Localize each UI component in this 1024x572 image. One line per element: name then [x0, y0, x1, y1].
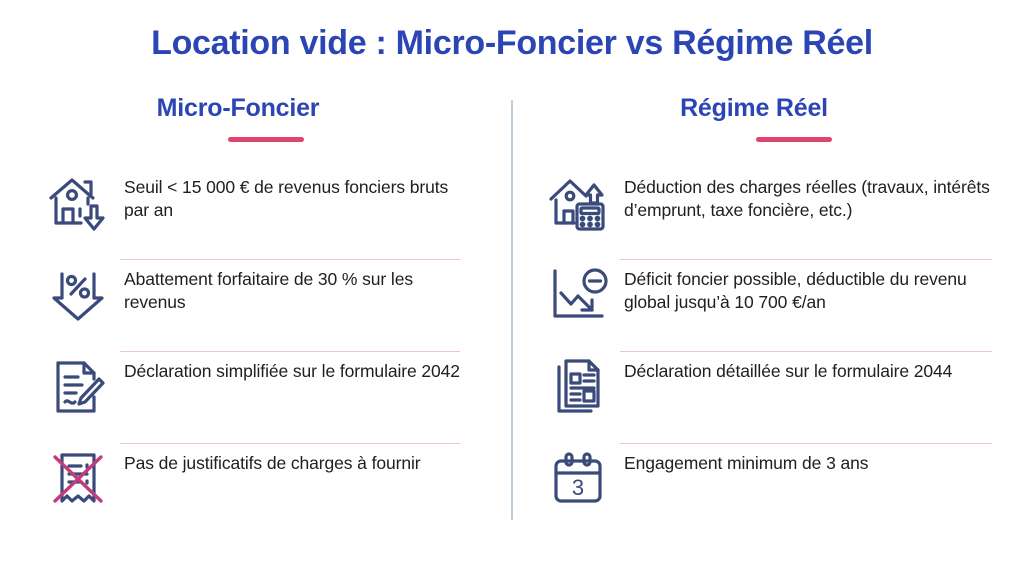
- list-item: Déclaration simplifiée sur le formulaire…: [42, 352, 474, 444]
- column-regime-reel: Régime Réel: [512, 92, 1024, 532]
- column-heading-micro-foncier: Micro-Foncier: [42, 92, 474, 123]
- stacked-documents-icon: [542, 352, 614, 420]
- columns-container: Micro-Foncier: [0, 92, 1024, 532]
- list-item-text: Déduction des charges réelles (travaux, …: [624, 168, 1006, 223]
- page-title: Location vide : Micro-Foncier vs Régime …: [0, 24, 1024, 63]
- feature-list-micro-foncier: Seuil < 15 000 € de revenus fonciers bru…: [42, 168, 474, 536]
- column-micro-foncier: Micro-Foncier: [0, 92, 512, 532]
- list-item: 3 Engagement minimum de 3 ans: [542, 444, 1006, 536]
- column-heading-regime-reel: Régime Réel: [542, 92, 1006, 123]
- list-item: Déclaration détaillée sur le formulaire …: [542, 352, 1006, 444]
- list-item: Seuil < 15 000 € de revenus fonciers bru…: [42, 168, 474, 260]
- percent-down-arrow-icon: [42, 260, 114, 328]
- list-item-text: Pas de justificatifs de charges à fourni…: [124, 444, 420, 475]
- svg-text:3: 3: [572, 475, 584, 500]
- list-item-text: Déclaration simplifiée sur le formulaire…: [124, 352, 460, 383]
- heading-accent-bar: [756, 137, 832, 142]
- list-item: Abattement forfaitaire de 30 % sur les r…: [42, 260, 474, 352]
- list-item: Pas de justificatifs de charges à fourni…: [42, 444, 474, 536]
- list-item-text: Déficit foncier possible, déductible du …: [624, 260, 1006, 315]
- heading-accent-bar: [228, 137, 304, 142]
- comparison-slide: Location vide : Micro-Foncier vs Régime …: [0, 0, 1024, 572]
- house-up-arrow-calculator-icon: [542, 168, 614, 236]
- list-item: Déficit foncier possible, déductible du …: [542, 260, 1006, 352]
- house-down-arrow-icon: [42, 168, 114, 236]
- declining-chart-minus-icon: [542, 260, 614, 328]
- receipt-crossed-out-icon: [42, 444, 114, 512]
- calendar-three-icon: 3: [542, 444, 614, 512]
- document-pen-icon: [42, 352, 114, 420]
- list-item: Déduction des charges réelles (travaux, …: [542, 168, 1006, 260]
- feature-list-regime-reel: Déduction des charges réelles (travaux, …: [542, 168, 1006, 536]
- list-item-text: Engagement minimum de 3 ans: [624, 444, 868, 475]
- list-item-text: Abattement forfaitaire de 30 % sur les r…: [124, 260, 474, 315]
- list-item-text: Seuil < 15 000 € de revenus fonciers bru…: [124, 168, 474, 223]
- list-item-text: Déclaration détaillée sur le formulaire …: [624, 352, 952, 383]
